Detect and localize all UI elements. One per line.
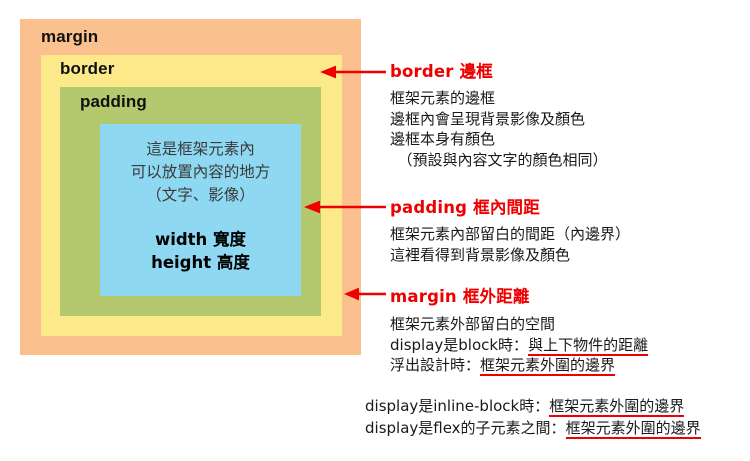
callout-border-line-1: 框架元素的邊框	[390, 88, 608, 109]
callout-border-line-2: 邊框內會呈現背景影像及顏色	[390, 109, 608, 130]
callout-border-body: 框架元素的邊框 邊框內會呈現背景影像及顏色 邊框本身有顏色 （預設與內容文字的顏…	[390, 88, 608, 170]
footnotes: display是inline-block時：框架元素外圍的邊界 display是…	[365, 396, 701, 439]
padding-box-label: padding	[80, 92, 147, 112]
footnote-line-2-prefix: display是flex的子元素之間：	[365, 419, 566, 437]
arrow-to-padding-icon	[302, 200, 388, 214]
arrow-to-margin-icon	[342, 287, 388, 301]
callout-margin-line-3-underlined: 框架元素外圍的邊界	[480, 356, 615, 376]
callout-padding-body: 框架元素內部留白的間距（內邊界） 這裡看得到背景影像及顏色	[390, 224, 630, 265]
content-box-text: 這是框架元素內 可以放置內容的地方 （文字、影像）	[100, 138, 301, 207]
footnote-line-2-underlined: 框架元素外圍的邊界	[566, 419, 701, 439]
callout-padding-line-2: 這裡看得到背景影像及顏色	[390, 245, 630, 266]
height-label: height 高度	[100, 251, 301, 274]
arrow-to-border-icon	[318, 65, 388, 79]
content-line-2: 可以放置內容的地方	[100, 161, 301, 184]
callout-margin-title: margin 框外距離	[390, 283, 648, 307]
footnote-line-1-underlined: 框架元素外圍的邊界	[549, 397, 684, 417]
callout-border-line-3: 邊框本身有顏色	[390, 129, 608, 150]
footnote-line-1: display是inline-block時：框架元素外圍的邊界	[365, 396, 701, 418]
footnote-line-2: display是flex的子元素之間：框架元素外圍的邊界	[365, 418, 701, 440]
callout-padding-line-1: 框架元素內部留白的間距（內邊界）	[390, 224, 630, 245]
callout-padding-title: padding 框內間距	[390, 194, 630, 218]
callout-margin-body: 框架元素外部留白的空間 display是block時：與上下物件的距離 浮出設計…	[390, 314, 648, 376]
diagram-canvas: margin border padding 這是框架元素內 可以放置內容的地方 …	[0, 0, 750, 461]
footnote-line-1-prefix: display是inline-block時：	[365, 397, 549, 415]
width-label: width 寬度	[100, 228, 301, 251]
margin-box-label: margin	[41, 27, 98, 47]
callout-padding: padding 框內間距 框架元素內部留白的間距（內邊界） 這裡看得到背景影像及…	[390, 194, 630, 265]
callout-margin-line-2-prefix: display是block時：	[390, 336, 528, 354]
callout-margin-line-1: 框架元素外部留白的空間	[390, 314, 648, 335]
callout-margin: margin 框外距離 框架元素外部留白的空間 display是block時：與…	[390, 283, 648, 376]
callout-border-title: border 邊框	[390, 58, 608, 82]
callout-border: border 邊框 框架元素的邊框 邊框內會呈現背景影像及顏色 邊框本身有顏色 …	[390, 58, 608, 170]
callout-margin-line-2: display是block時：與上下物件的距離	[390, 335, 648, 356]
border-box-label: border	[60, 59, 114, 79]
callout-border-line-4: （預設與內容文字的顏色相同）	[390, 150, 608, 171]
callout-margin-line-3-prefix: 浮出設計時：	[390, 356, 480, 374]
callout-margin-line-2-underlined: 與上下物件的距離	[528, 336, 648, 356]
content-box-dimensions: width 寬度 height 高度	[100, 228, 301, 274]
content-line-3: （文字、影像）	[100, 184, 301, 207]
content-line-1: 這是框架元素內	[100, 138, 301, 161]
callout-margin-line-3: 浮出設計時：框架元素外圍的邊界	[390, 355, 648, 376]
